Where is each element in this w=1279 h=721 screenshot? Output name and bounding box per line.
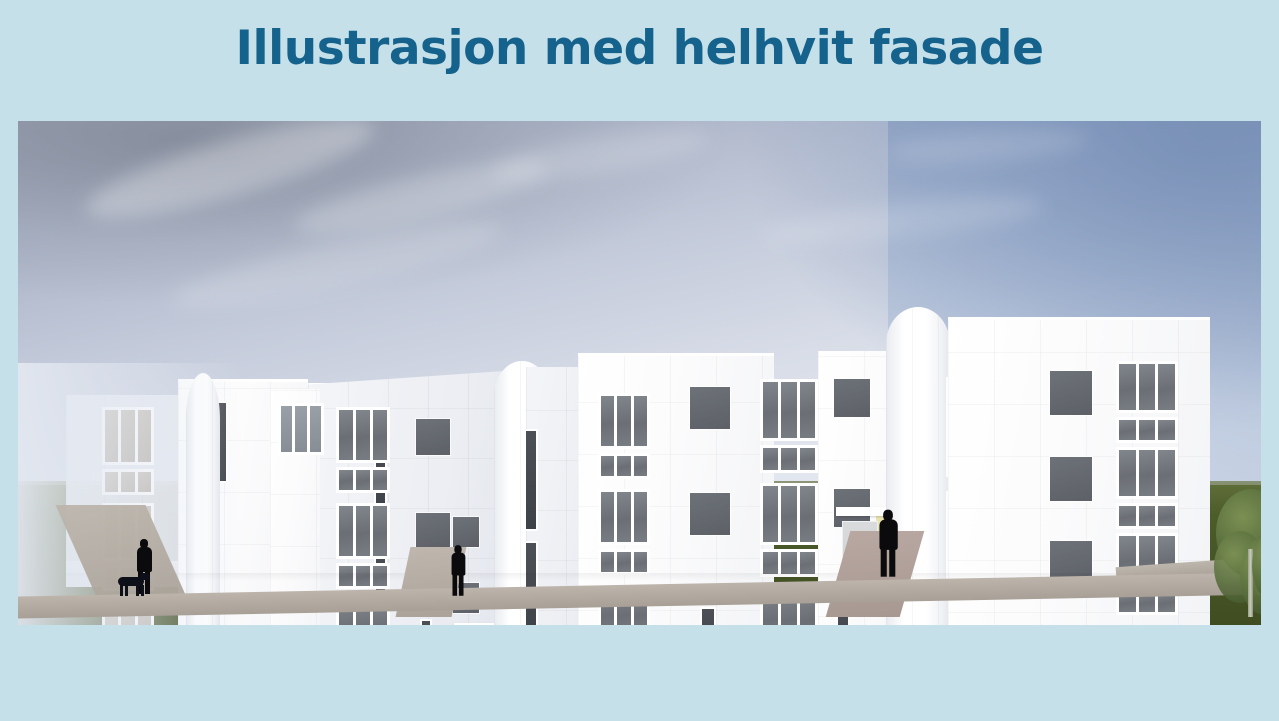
dog-silhouette <box>118 573 152 597</box>
tree-small <box>1252 531 1261 625</box>
person-at-entrance-left <box>449 545 467 595</box>
roofline <box>578 353 774 356</box>
window-slot <box>526 543 536 625</box>
window-group <box>598 393 650 449</box>
person-leg <box>459 574 464 596</box>
window-group <box>598 549 650 575</box>
person-leg <box>881 547 887 576</box>
page-title: Illustrasjon med helhvit fasade <box>0 22 1279 76</box>
window-group <box>1116 447 1178 499</box>
dog-leg <box>120 585 123 596</box>
person-at-entrance-right <box>873 510 902 595</box>
window-group <box>598 453 650 479</box>
window-group <box>1116 503 1178 529</box>
dog-leg <box>136 585 139 596</box>
window-square <box>416 513 450 549</box>
dog-leg <box>125 585 128 596</box>
window-group <box>1116 361 1178 413</box>
window-group <box>1116 417 1178 443</box>
window-group <box>278 403 324 455</box>
person-body <box>451 553 465 576</box>
window-slot <box>422 621 430 625</box>
window-square <box>1050 371 1092 415</box>
person-body <box>879 519 897 550</box>
window-square <box>690 387 730 429</box>
window-square <box>834 379 870 417</box>
slide-canvas: Illustrasjon med helhvit fasade <box>0 0 1279 721</box>
person-body <box>137 547 152 572</box>
window-slot <box>526 431 536 529</box>
window-group <box>760 379 818 441</box>
window-group <box>760 483 818 545</box>
window-group <box>336 467 390 493</box>
window-group <box>336 407 390 463</box>
illustration-image <box>18 121 1261 625</box>
person-leg <box>452 574 457 596</box>
window-square <box>453 517 479 547</box>
window-square <box>416 419 450 455</box>
tree-crown <box>1252 531 1261 601</box>
window-group <box>760 445 818 473</box>
window-square <box>690 493 730 535</box>
roofline <box>948 317 1210 320</box>
window-slot <box>702 609 714 625</box>
window-group <box>336 563 390 589</box>
person-leg <box>889 547 895 576</box>
window-square <box>1050 457 1092 501</box>
window-group <box>598 489 650 545</box>
dog-head <box>140 573 150 580</box>
window-group <box>760 549 818 577</box>
window-group <box>336 503 390 559</box>
dog-leg <box>141 585 144 596</box>
